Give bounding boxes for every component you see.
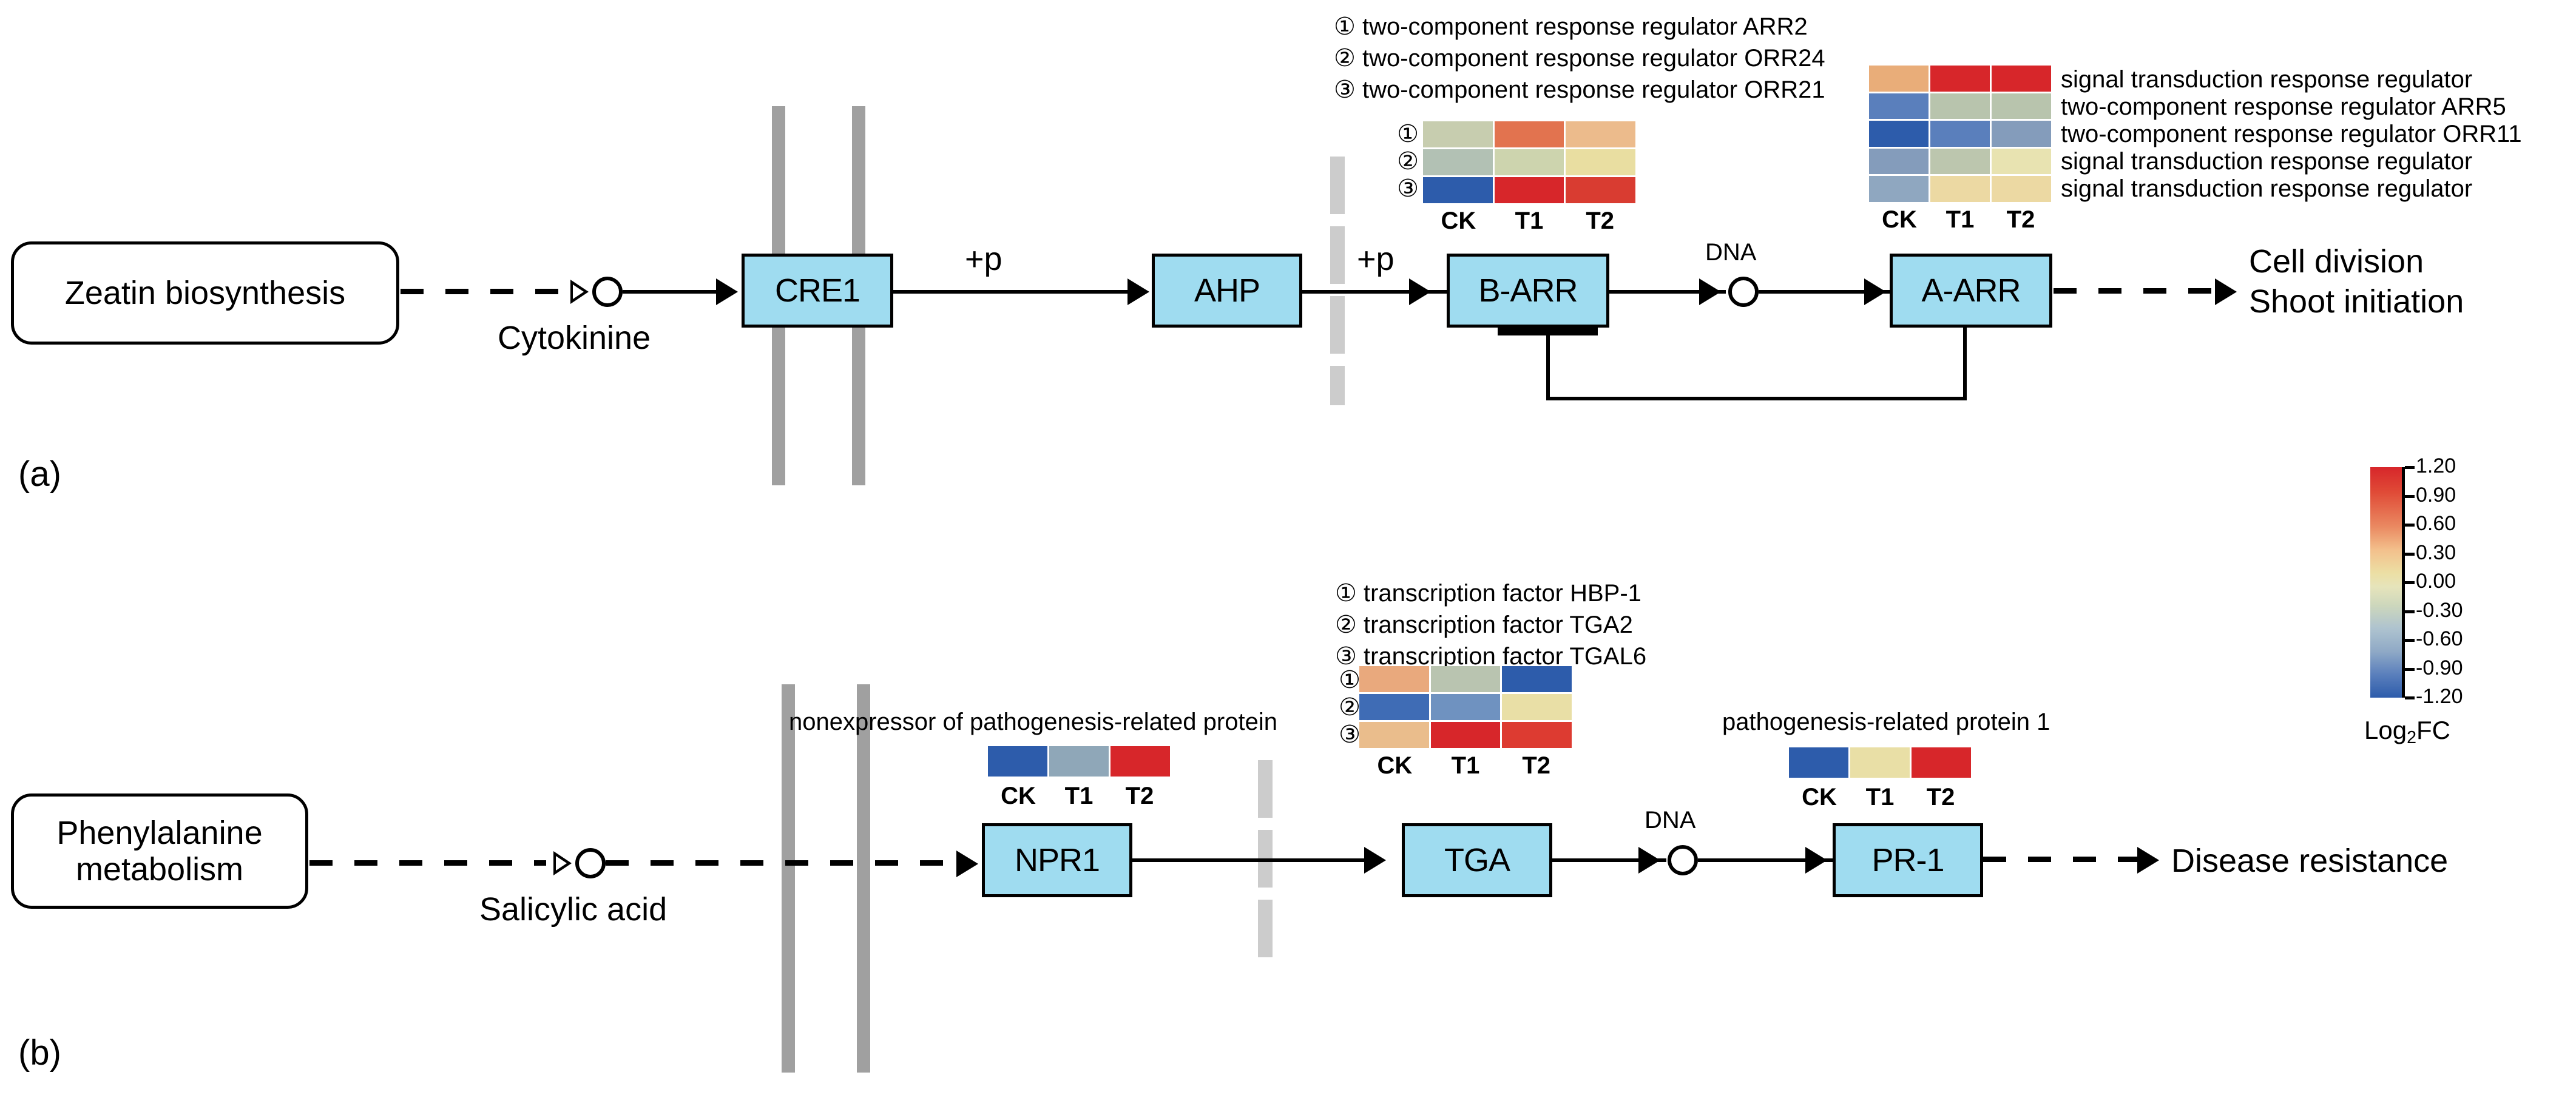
- colorbar-title-post: FC: [2416, 716, 2450, 744]
- heatmap-cell: [1930, 149, 1990, 175]
- heatmap-cell: [1431, 666, 1501, 692]
- colorbar-tick-label: 0.90: [2416, 483, 2456, 507]
- connector-dashed-b: [606, 860, 945, 866]
- open-triangle-inner: [573, 285, 584, 299]
- col-label: T2: [1564, 207, 1635, 235]
- heatmap-cell: [1431, 694, 1501, 720]
- colorbar-tick-label: -0.30: [2416, 599, 2463, 622]
- heatmap-cell: [1850, 747, 1910, 778]
- barr-heatmap-row-marks: ① ② ③: [1391, 120, 1425, 202]
- heatmap-cell: [1049, 746, 1109, 777]
- connector-solid-b: [1132, 858, 1369, 862]
- node-cre1[interactable]: CRE1: [742, 254, 893, 328]
- row-mark: ③: [1391, 175, 1425, 202]
- ligand-label-salicylic-acid: Salicylic acid: [479, 892, 667, 928]
- feedback-line-vertical-left: [1546, 329, 1550, 399]
- feedback-line-vertical-right: [1963, 328, 1967, 400]
- node-pr1[interactable]: PR-1: [1833, 823, 1983, 897]
- colorbar-tick-label: -0.60: [2416, 627, 2463, 651]
- pr1-heatmap: [1789, 747, 1971, 778]
- node-label-line2: metabolism: [76, 851, 243, 888]
- node-phenylalanine-metabolism[interactable]: Phenylalanine metabolism: [11, 793, 308, 909]
- arrowhead-icon-b: [956, 851, 978, 877]
- arrowhead-icon: [2215, 278, 2237, 305]
- node-ahp[interactable]: AHP: [1152, 254, 1302, 328]
- colorbar-tick-label: 0.30: [2416, 541, 2456, 565]
- arrowhead-icon: [716, 278, 738, 305]
- connector-dashed-b: [1983, 857, 2141, 862]
- colorbar-title-pre: Log: [2364, 716, 2407, 744]
- row-label: signal transduction response regulator: [2061, 66, 2522, 93]
- arrowhead-icon-b: [2137, 847, 2159, 874]
- nuclear-membrane-dash: [1330, 296, 1345, 354]
- phospho-label-2: +p: [1357, 241, 1394, 277]
- heatmap-cell: [1930, 93, 1990, 120]
- node-label: TGA: [1444, 844, 1510, 877]
- col-label: T1: [1049, 783, 1109, 810]
- npr1-heatmap-col-labels: CK T1 T2: [988, 783, 1170, 810]
- colorbar-tick-label: 0.60: [2416, 512, 2456, 536]
- panel-a-label: (a): [18, 454, 61, 494]
- feedback-line-horizontal: [1546, 397, 1967, 400]
- nuclear-membrane-dash: [1330, 366, 1345, 405]
- barr-legend-line-1: ① two-component response regulator ARR2: [1334, 13, 1808, 41]
- colorbar-tick: [2405, 668, 2415, 671]
- col-label: T2: [1109, 783, 1170, 810]
- heatmap-cell: [1566, 177, 1635, 203]
- dna-node-a: [1728, 277, 1759, 307]
- pr1-heatmap-col-labels: CK T1 T2: [1789, 784, 1971, 811]
- pr1-heatmap-label: pathogenesis-related protein 1: [1722, 709, 2050, 736]
- heatmap-cell: [1789, 747, 1848, 778]
- arrowhead-icon-b: [1805, 847, 1827, 874]
- dna-label-a: DNA: [1705, 239, 1756, 266]
- col-label: T2: [1990, 206, 2051, 234]
- tga-heatmap-col-labels: CK T1 T2: [1359, 752, 1572, 780]
- colorbar-tick: [2405, 610, 2415, 613]
- row-label: two-component response regulator ARR5: [2061, 93, 2522, 120]
- heatmap-cell: [1930, 66, 1990, 92]
- node-tga[interactable]: TGA: [1402, 823, 1552, 897]
- colorbar-gradient: [2370, 467, 2402, 698]
- col-label: T2: [1910, 784, 1971, 811]
- panel-b-label: (b): [18, 1033, 61, 1073]
- arrowhead-icon: [1409, 278, 1431, 305]
- heatmap-cell: [1992, 93, 2051, 120]
- heatmap-cell: [1912, 747, 1971, 778]
- tga-legend-line-1: ① transcription factor HBP-1: [1335, 580, 1641, 607]
- aarr-heatmap-row-labels: signal transduction response regulator t…: [2061, 66, 2522, 202]
- colorbar-title-sub: 2: [2407, 728, 2416, 747]
- node-npr1[interactable]: NPR1: [982, 823, 1132, 897]
- heatmap-cell: [1869, 93, 1929, 120]
- row-label: two-component response regulator ORR11: [2061, 120, 2522, 147]
- col-label: CK: [1359, 752, 1430, 780]
- connector-dashed: [2054, 288, 2217, 294]
- node-label: Zeatin biosynthesis: [65, 275, 345, 311]
- colorbar-tick-label: 0.00: [2416, 570, 2456, 593]
- node-label: A-ARR: [1921, 274, 2020, 307]
- aarr-heatmap: [1869, 66, 2051, 202]
- nuclear-membrane-dash-b: [1258, 760, 1273, 818]
- heatmap-cell: [1992, 149, 2051, 175]
- connector-solid: [893, 290, 1133, 294]
- node-b-arr[interactable]: B-ARR: [1447, 254, 1609, 328]
- npr1-heatmap-label: nonexpressor of pathogenesis-related pro…: [789, 709, 1277, 736]
- colorbar-tick-label: -0.90: [2416, 656, 2463, 680]
- tga-legend-line-2: ② transcription factor TGA2: [1335, 612, 1633, 639]
- heatmap-cell: [1431, 722, 1501, 748]
- heatmap-cell: [1930, 121, 1990, 147]
- heatmap-cell: [1869, 66, 1929, 92]
- colorbar-title: Log2FC: [2364, 716, 2450, 748]
- col-label: CK: [1869, 206, 1930, 234]
- colorbar-tick: [2405, 524, 2415, 527]
- colorbar: [2370, 467, 2402, 698]
- colorbar-tick: [2405, 639, 2415, 642]
- ligand-node-salicylic-acid: [575, 848, 606, 878]
- heatmap-cell: [1930, 176, 1990, 202]
- col-label: CK: [988, 783, 1049, 810]
- heatmap-cell: [1502, 722, 1572, 748]
- barr-legend-line-3: ③ two-component response regulator ORR21: [1334, 76, 1825, 104]
- nuclear-membrane-dash: [1330, 226, 1345, 284]
- col-label: T1: [1850, 784, 1910, 811]
- phospho-label-1: +p: [965, 241, 1002, 277]
- outcome-line-1: Cell division: [2249, 244, 2424, 280]
- tga-heatmap: [1359, 666, 1572, 748]
- outcome-disease-resistance: Disease resistance: [2171, 843, 2448, 879]
- plasma-membrane-bar-right-b: [857, 684, 870, 1073]
- heatmap-cell: [1111, 746, 1170, 777]
- connector-dashed: [401, 289, 573, 294]
- heatmap-cell: [1359, 722, 1429, 748]
- colorbar-tick: [2405, 495, 2415, 498]
- heatmap-cell: [1359, 666, 1429, 692]
- col-label: T1: [1494, 207, 1565, 235]
- node-label: PR-1: [1871, 844, 1944, 877]
- heatmap-cell: [1992, 66, 2051, 92]
- open-triangle-inner-b: [556, 856, 567, 871]
- nuclear-membrane-dash: [1330, 157, 1345, 214]
- aarr-heatmap-col-labels: CK T1 T2: [1869, 206, 2051, 234]
- row-label: signal transduction response regulator: [2061, 175, 2522, 202]
- colorbar-tick-label: -1.20: [2416, 685, 2463, 709]
- colorbar-tick: [2405, 466, 2415, 469]
- heatmap-cell: [1495, 177, 1564, 203]
- figure-canvas: Zeatin biosynthesis Cytokinine CRE1 +p A…: [0, 0, 2576, 1095]
- arrowhead-icon: [1864, 278, 1886, 305]
- connector-dashed-b: [309, 860, 546, 866]
- barr-heatmap: [1423, 121, 1635, 203]
- inhibition-bar-icon: [1498, 328, 1598, 335]
- heatmap-cell: [1495, 121, 1564, 147]
- outcome-line-2: Shoot initiation: [2249, 284, 2464, 320]
- arrowhead-icon-b: [1364, 847, 1386, 874]
- heatmap-cell: [1566, 149, 1635, 175]
- ligand-node-cytokinine: [592, 277, 623, 307]
- col-label: T2: [1501, 752, 1572, 780]
- arrowhead-icon: [1699, 278, 1721, 305]
- node-label: CRE1: [775, 274, 860, 307]
- col-label: T1: [1930, 206, 1990, 234]
- ligand-label-cytokinine: Cytokinine: [498, 320, 651, 356]
- heatmap-cell: [1869, 121, 1929, 147]
- barr-heatmap-col-labels: CK T1 T2: [1423, 207, 1635, 235]
- plasma-membrane-bar-left-b: [782, 684, 795, 1073]
- row-mark: ①: [1391, 120, 1425, 147]
- npr1-heatmap: [988, 746, 1170, 777]
- heatmap-cell: [988, 746, 1047, 777]
- heatmap-cell: [1423, 121, 1493, 147]
- heatmap-cell: [1495, 149, 1564, 175]
- row-label: signal transduction response regulator: [2061, 147, 2522, 175]
- heatmap-cell: [1992, 121, 2051, 147]
- colorbar-tick: [2405, 581, 2415, 584]
- node-label: NPR1: [1015, 844, 1100, 877]
- dna-label-b: DNA: [1645, 807, 1695, 834]
- colorbar-tick: [2405, 696, 2415, 699]
- barr-legend-line-2: ② two-component response regulator ORR24: [1334, 45, 1825, 72]
- heatmap-cell: [1566, 121, 1635, 147]
- colorbar-tick: [2405, 553, 2415, 556]
- col-label: CK: [1789, 784, 1850, 811]
- node-label: AHP: [1194, 274, 1260, 307]
- node-a-arr[interactable]: A-ARR: [1890, 254, 2052, 328]
- col-label: T1: [1430, 752, 1501, 780]
- arrowhead-icon-b: [1638, 847, 1660, 874]
- heatmap-cell: [1359, 694, 1429, 720]
- nuclear-membrane-dash-b: [1258, 900, 1273, 957]
- colorbar-tick-label: 1.20: [2416, 454, 2456, 478]
- connector-solid: [623, 290, 720, 294]
- heatmap-cell: [1992, 176, 2051, 202]
- dna-node-b: [1668, 845, 1698, 875]
- heatmap-cell: [1502, 694, 1572, 720]
- heatmap-cell: [1502, 666, 1572, 692]
- node-label: B-ARR: [1478, 274, 1577, 307]
- heatmap-cell: [1423, 177, 1493, 203]
- heatmap-cell: [1869, 176, 1929, 202]
- col-label: CK: [1423, 207, 1494, 235]
- row-mark: ②: [1391, 147, 1425, 175]
- heatmap-cell: [1423, 149, 1493, 175]
- heatmap-cell: [1869, 149, 1929, 175]
- arrowhead-icon: [1127, 278, 1149, 305]
- node-zeatin-biosynthesis[interactable]: Zeatin biosynthesis: [11, 241, 399, 345]
- node-label-line1: Phenylalanine: [56, 815, 262, 851]
